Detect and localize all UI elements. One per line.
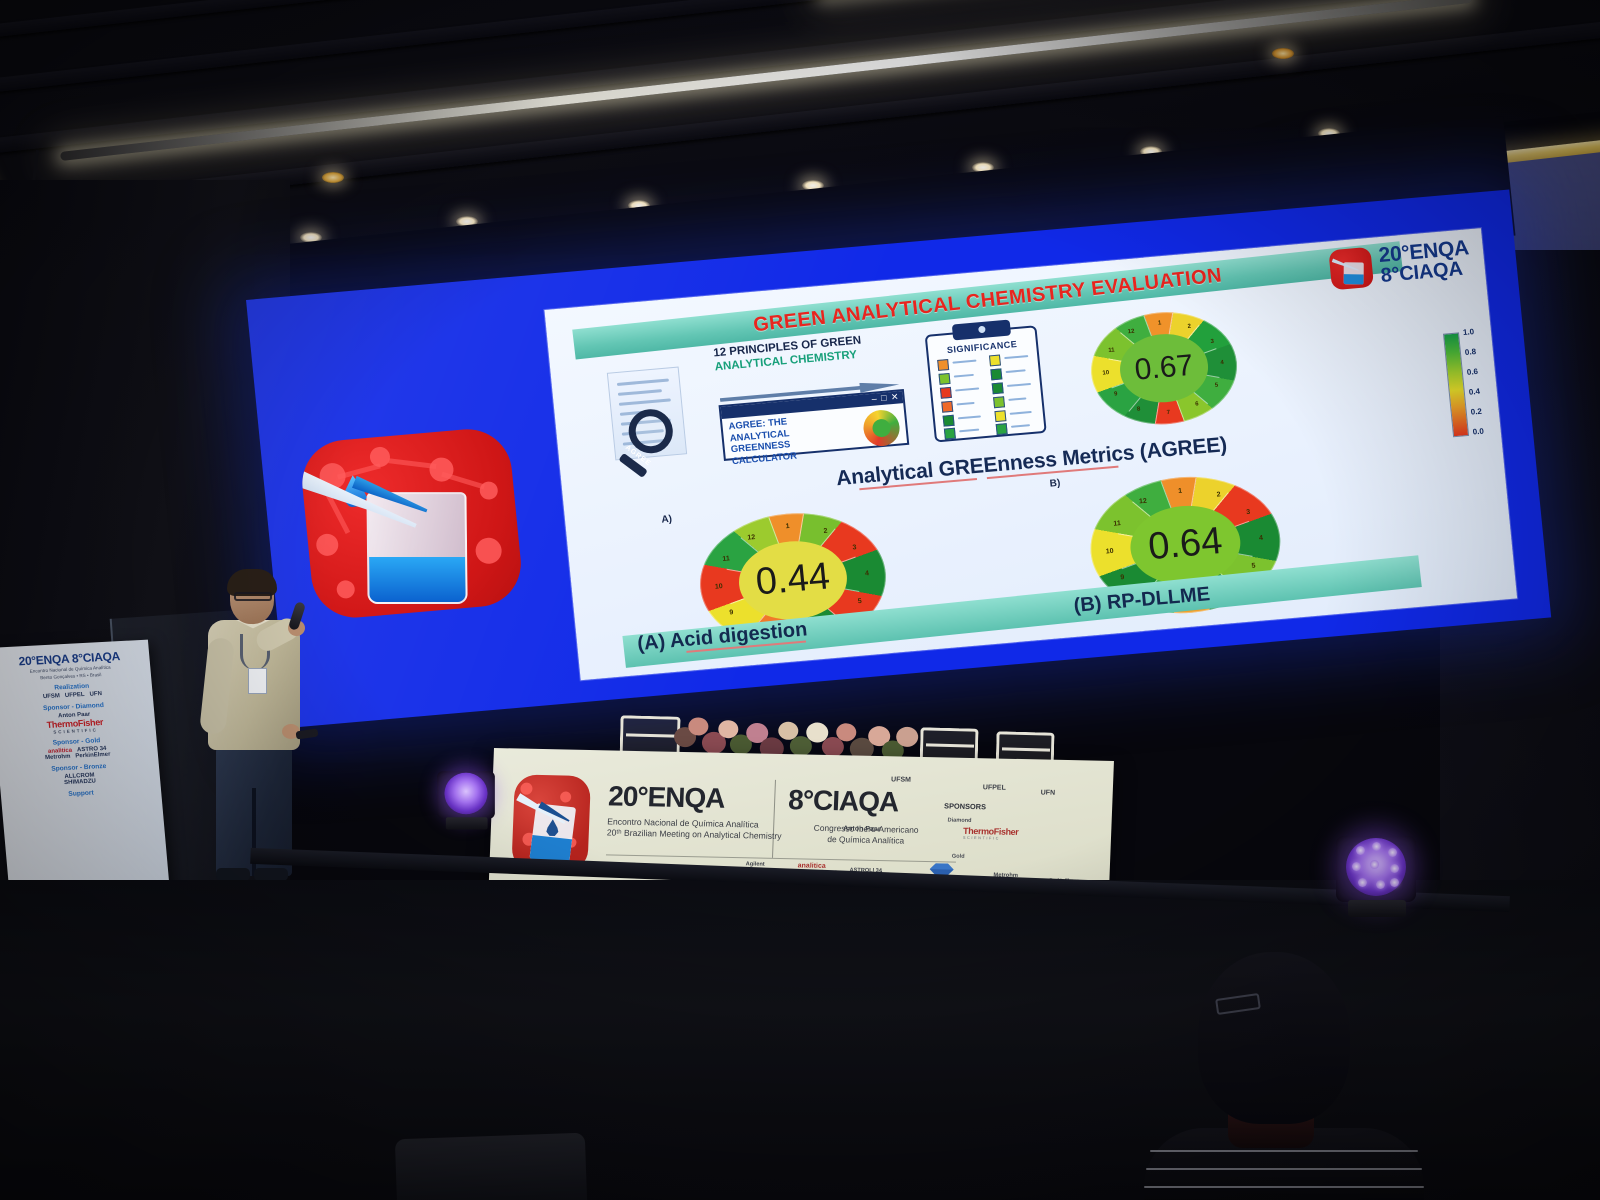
moving-head-light — [1330, 828, 1422, 924]
calculator-title: AGREE: THE ANALYTICAL GREENNESS CALCULAT… — [728, 416, 797, 468]
molecule-dot — [336, 580, 356, 599]
moving-head-light — [433, 765, 499, 834]
scale-tick-4: 0.4 — [1468, 387, 1480, 397]
pictogram-segment-number: 8 — [1137, 406, 1141, 412]
banner-logo-anton-paar: Anton Paar — [843, 825, 881, 833]
panel-a-tag: A) — [661, 514, 673, 526]
pictogram-segment-number: 12 — [1128, 329, 1135, 336]
pictogram-segment-number: 3 — [1210, 338, 1214, 344]
light-lens — [1346, 838, 1406, 896]
pictogram-segment-number: 11 — [1108, 347, 1115, 354]
scale-tick-3: 0.6 — [1466, 367, 1478, 377]
presentation-slide: GREEN ANALYTICAL CHEMISTRY EVALUATION 20… — [544, 228, 1517, 680]
pictogram-segment-number: 4 — [865, 570, 870, 577]
scale-tick-2: 0.8 — [1464, 347, 1476, 357]
light-lens — [444, 773, 487, 815]
banner-tier-diamond: Diamond — [903, 817, 1015, 825]
audience-member — [1144, 952, 1424, 1200]
audience-head — [1198, 952, 1350, 1124]
pictogram-segment-number: 5 — [857, 598, 862, 605]
audience-glasses — [1215, 993, 1261, 1015]
pictogram-segment-number: 9 — [729, 609, 734, 616]
pictogram-segment-number: 4 — [1259, 535, 1264, 542]
pictogram-segment-number: 1 — [1158, 321, 1162, 327]
molecule-bond — [388, 458, 436, 469]
speaker-presenter — [196, 572, 316, 888]
molecule-dot — [474, 537, 502, 565]
pictogram-segment-number: 7 — [1166, 410, 1170, 416]
pictogram-segment-number: 1 — [1178, 487, 1183, 494]
ceiling-downlight-amber — [322, 172, 344, 183]
donut-gauge-icon — [862, 409, 901, 448]
pictogram-segment-number: 5 — [1215, 383, 1219, 389]
podium-with-sponsor-panel: 20°ENQA 8°CIAQA Encontro Nacional de Quí… — [0, 640, 171, 915]
pictogram-segment-number: 6 — [1195, 401, 1199, 407]
banner-logo-ufsm: UFSM — [891, 776, 911, 783]
banner-title-ciaqa: 8°CIAQA — [788, 784, 899, 818]
pictogram-segment-number: 1 — [785, 523, 790, 530]
pictogram-segment-number: 9 — [1114, 392, 1118, 398]
panel-b-tag: B) — [1049, 478, 1061, 490]
pictogram-segment-number: 11 — [722, 556, 730, 564]
flower — [896, 727, 919, 748]
pictogram-segment-number: 3 — [1246, 509, 1251, 516]
banner-subtitle-left: Encontro Nacional de Química Analítica 2… — [607, 816, 783, 842]
logo-thermofisher-sub: SCIENTIFIC — [53, 728, 98, 735]
scale-tick-1: 1.0 — [1463, 327, 1475, 337]
banner-rule — [606, 854, 956, 862]
podium-section-heading: Support — [7, 787, 155, 802]
speaker-badge — [248, 668, 267, 694]
significance-label: SIGNIFICANCE — [928, 337, 1037, 356]
molecule-dot — [315, 533, 339, 557]
logo-ufn: UFN — [89, 692, 102, 699]
pictogram-segment-number: 12 — [1139, 498, 1147, 506]
banner-title-enqa: 20°ENQA — [608, 780, 725, 814]
flower — [836, 723, 856, 742]
presentation-clicker — [296, 729, 319, 740]
pictogram-segment-number: 11 — [1113, 520, 1121, 528]
banner-sub-r2: de Química Analítica — [827, 834, 904, 846]
molecule-bond — [441, 472, 485, 490]
banner-sponsors-heading: SPONSORS — [900, 801, 1030, 813]
agree-calculator-window: – □ ✕ AGREE: THE ANALYTICAL GREENNESS CA… — [719, 389, 910, 461]
agree-pictogram-overall: 1234567891011120.67 — [1086, 306, 1242, 430]
banner-logo-ufn: UFN — [1041, 789, 1056, 796]
banner-logo-thermofisher: ThermoFisher SCIENTIFIC — [963, 826, 1019, 841]
pictogram-segment-number: 2 — [823, 527, 828, 534]
pictogram-segment-number: 3 — [852, 544, 857, 551]
pictogram-segment-number: 4 — [1220, 360, 1224, 366]
flower — [688, 717, 708, 736]
ceiling-downlight-amber — [1272, 48, 1294, 59]
conference-logo-mark — [1328, 247, 1374, 290]
logo-ufsm: UFSM — [43, 694, 61, 701]
clipboard-clip-icon — [952, 320, 1011, 341]
logo-perkinelmer: PerkinElmer — [75, 752, 111, 760]
significance-clipboard: SIGNIFICANCE — [925, 325, 1047, 442]
conference-logo-text: 20°ENQA 8°CIAQA — [1378, 237, 1472, 286]
banner-logo-ufpel: UFPEL — [983, 784, 1006, 791]
beaker-liquid — [369, 557, 466, 602]
logo-shimadzu: SHIMADZU — [64, 779, 96, 787]
pictogram-segment-number: 10 — [1105, 548, 1113, 556]
banner-sub-en: 20ᵗʰ Brazilian Meeting on Analytical Che… — [607, 828, 782, 842]
logo-metrohm: Metrohm — [45, 754, 71, 761]
conference-photo-scene: GREEN ANALYTICAL CHEMISTRY EVALUATION 20… — [0, 0, 1600, 1200]
enqa-app-logo-large — [298, 426, 525, 621]
logo-ufpel: UFPEL — [65, 692, 85, 699]
pictogram-segment-number: 12 — [747, 534, 755, 542]
conference-logo: 20°ENQA 8°CIAQA — [1328, 237, 1472, 291]
foreground-chair — [395, 1133, 587, 1200]
pictogram-segment-number: 2 — [1216, 491, 1221, 498]
pictogram-segment-number: 9 — [1120, 574, 1125, 581]
pictogram-segment-number: 2 — [1187, 324, 1191, 330]
banner-tier-gold: Gold — [908, 853, 1008, 861]
pictogram-segment-number: 5 — [1251, 563, 1256, 570]
pictogram-segment-number: 10 — [715, 583, 723, 591]
logo-beaker-liquid — [1343, 274, 1363, 284]
pictogram-segment-number: 10 — [1102, 370, 1109, 377]
speaker-glasses — [234, 592, 272, 601]
